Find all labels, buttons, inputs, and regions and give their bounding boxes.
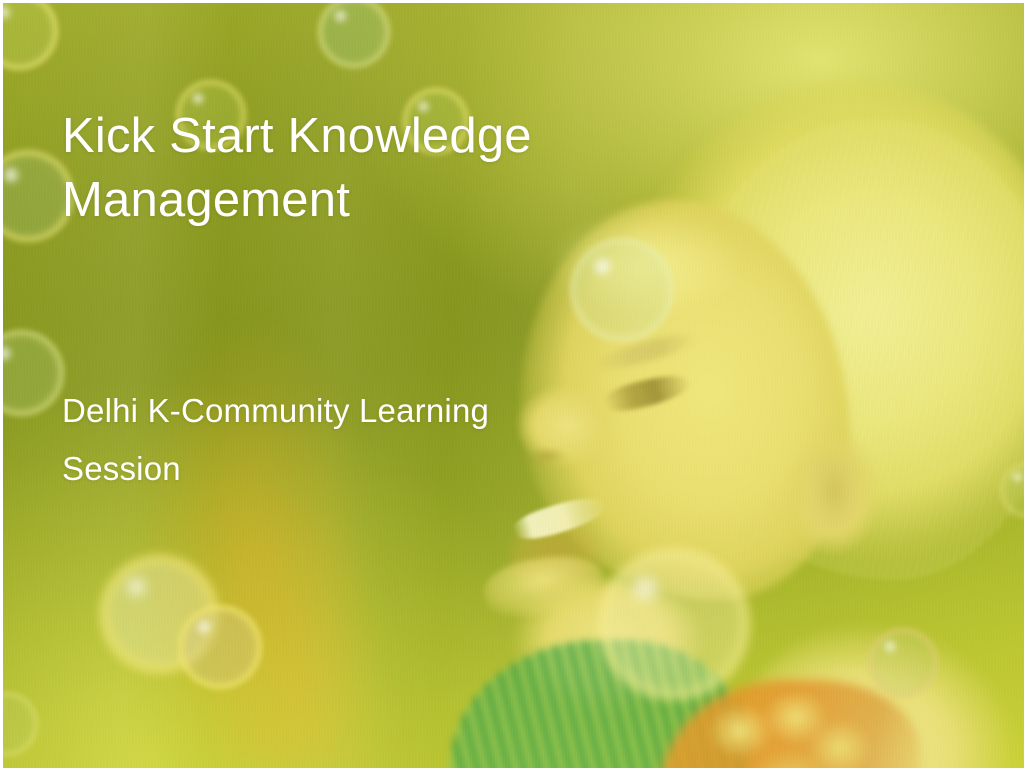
child-hand: [680, 680, 880, 768]
child-ear-inner: [808, 452, 860, 530]
slide-subtitle: Delhi K-Community Learning Session: [62, 382, 642, 498]
presentation-slide: Kick Start Knowledge Management Delhi K-…: [0, 0, 1024, 768]
title-text-block: Kick Start Knowledge Management: [62, 104, 682, 232]
slide-left-edge: [0, 0, 3, 768]
page-title: Kick Start Knowledge Management: [62, 104, 682, 232]
slide-top-edge: [0, 0, 1024, 3]
